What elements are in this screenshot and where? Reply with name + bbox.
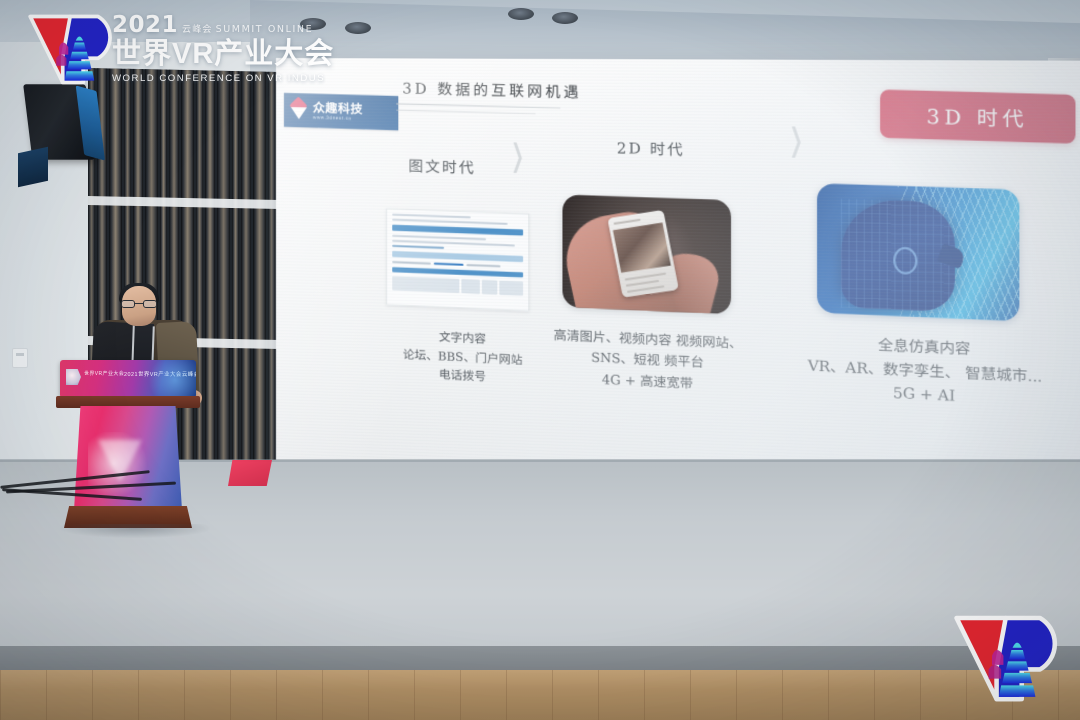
chevron-right-icon: ❭	[508, 138, 526, 174]
stage-edge	[0, 646, 1080, 672]
caption-column-2: 高清图片、视频内容 视频网站、 SNS、短视 频平台 4G + 高速宽带	[517, 323, 780, 398]
banner-title-block: 2021云峰会SUMMIT ONLINE 世界VR产业大会 WORLD CONF…	[112, 14, 334, 84]
title-underline-secondary	[396, 110, 535, 115]
caption-column-3: 全息仿真内容 VR、AR、数字孪生、 智慧城市... 5G + AI	[761, 329, 1080, 416]
stage-cables	[0, 474, 200, 500]
banner-year: 2021	[112, 12, 178, 38]
world-vr-conference-logo	[24, 10, 120, 88]
media-old-webpage-screenshot	[386, 208, 529, 311]
podium-sign-line1: 世界VR产业大会	[84, 371, 124, 378]
podium-logo-mark	[66, 369, 81, 385]
podium-sign: 世界VR产业大会 2021世界VR产业大会云峰会	[60, 360, 196, 398]
wood-floor	[0, 670, 1080, 720]
banner-title-cn: 世界VR产业大会	[112, 38, 334, 70]
pa-speaker-mount	[18, 147, 48, 187]
banner-title-en: WORLD CONFERENCE ON VR INDUS	[112, 73, 334, 84]
ear-detail	[893, 247, 917, 275]
glasses-icon	[121, 300, 157, 308]
slide-title: 3D 数据的互联网机遇	[402, 77, 581, 103]
banner-year-suffix-cn: 云峰会	[182, 25, 213, 35]
wall-socket	[12, 348, 28, 368]
era-label-3: 3D 时代	[927, 101, 1028, 132]
red-stage-prop	[228, 460, 272, 486]
era-badge-3d: 3D 时代	[880, 90, 1075, 144]
screenshot-root: 众趣科技 www.3dnest.cn 3D 数据的互联网机遇 图文时代 ❭ 2D…	[0, 0, 1080, 720]
media-hand-holding-phone	[562, 194, 731, 314]
era-label-1: 图文时代	[408, 155, 475, 178]
ceiling-spotlight	[552, 12, 578, 24]
banner-year-suffix-en: SUMMIT ONLINE	[216, 24, 314, 35]
chevron-right-icon: ❭	[787, 122, 806, 159]
era-label-2: 2D 时代	[617, 137, 685, 161]
title-underline	[396, 103, 560, 108]
world-vr-conference-logo-corner	[950, 610, 1066, 706]
event-banner: 2021云峰会SUMMIT ONLINE 世界VR产业大会 WORLD CONF…	[0, 0, 360, 106]
phone-photo	[613, 223, 671, 273]
podium: 世界VR产业大会 2021世界VR产业大会云峰会	[60, 360, 196, 532]
podium-shadow	[60, 524, 210, 538]
company-url: www.3dnest.cn	[313, 115, 363, 121]
media-digital-face-profile	[817, 183, 1019, 321]
ceiling-spotlight	[508, 8, 534, 20]
